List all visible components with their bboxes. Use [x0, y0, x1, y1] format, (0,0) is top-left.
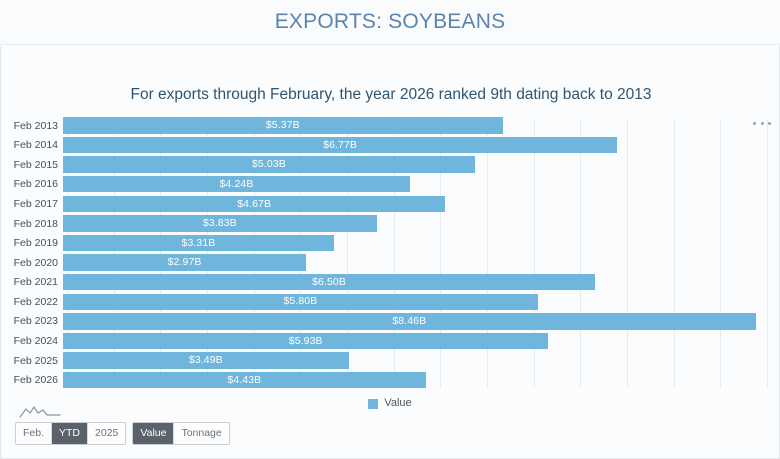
bar-track: $5.03B	[63, 155, 779, 175]
bar[interactable]: $6.77B	[63, 137, 617, 153]
chart-rows: Feb 2013$5.37BFeb 2014$6.77BFeb 2015$5.0…	[1, 116, 779, 390]
bar-track: $5.93B	[63, 332, 779, 352]
category-label: Feb 2026	[1, 375, 63, 386]
chart-row: Feb 2013$5.37B	[1, 116, 779, 136]
chart-row: Feb 2026$4.43B	[1, 371, 779, 391]
category-label: Feb 2021	[1, 277, 63, 288]
bar-track: $2.97B	[63, 253, 779, 273]
period-button-2025[interactable]: 2025	[88, 423, 125, 444]
bar[interactable]: $6.50B	[63, 274, 595, 290]
category-label: Feb 2025	[1, 356, 63, 367]
measure-button-tonnage[interactable]: Tonnage	[174, 423, 228, 444]
bar-track: $8.46B	[63, 312, 779, 332]
bar-value-label: $3.83B	[203, 218, 237, 229]
bar-value-label: $2.97B	[168, 257, 202, 268]
bar-track: $5.80B	[63, 292, 779, 312]
bar[interactable]: $5.93B	[63, 333, 548, 349]
bar[interactable]: $8.46B	[63, 313, 756, 329]
chart-row: Feb 2022$5.80B	[1, 292, 779, 312]
chart-row: Feb 2015$5.03B	[1, 155, 779, 175]
page-header: EXPORTS: SOYBEANS	[0, 0, 780, 45]
chart-plot-area: Feb 2013$5.37BFeb 2014$6.77BFeb 2015$5.0…	[1, 116, 779, 391]
bar-value-label: $4.67B	[237, 199, 271, 210]
bar-track: $3.31B	[63, 234, 779, 254]
period-button-feb[interactable]: Feb.	[16, 423, 52, 444]
bar[interactable]: $3.49B	[63, 352, 349, 368]
bar-value-label: $8.46B	[392, 316, 426, 327]
bar-chart: Feb 2013$5.37BFeb 2014$6.77BFeb 2015$5.0…	[1, 116, 779, 391]
chart-row: Feb 2019$3.31B	[1, 234, 779, 254]
chart-row: Feb 2014$6.77B	[1, 136, 779, 156]
control-button-groups: Feb.YTD2025 ValueTonnage	[15, 422, 230, 445]
category-label: Feb 2013	[1, 121, 63, 132]
bar[interactable]: $3.83B	[63, 215, 377, 231]
period-button-ytd[interactable]: YTD	[52, 423, 88, 444]
category-label: Feb 2014	[1, 140, 63, 151]
bar-value-label: $3.49B	[189, 355, 223, 366]
bar-track: $4.67B	[63, 194, 779, 214]
page-title: EXPORTS: SOYBEANS	[275, 10, 506, 34]
measure-button-group: ValueTonnage	[132, 422, 229, 445]
bar-value-label: $4.24B	[220, 179, 254, 190]
bar-value-label: $6.50B	[312, 277, 346, 288]
bar[interactable]: $3.31B	[63, 235, 334, 251]
chart-row: Feb 2020$2.97B	[1, 253, 779, 273]
category-label: Feb 2024	[1, 336, 63, 347]
category-label: Feb 2019	[1, 238, 63, 249]
bar-track: $6.50B	[63, 273, 779, 293]
bar-track: $4.43B	[63, 371, 779, 391]
measure-button-value[interactable]: Value	[133, 423, 174, 444]
category-label: Feb 2015	[1, 160, 63, 171]
chart-row: Feb 2016$4.24B	[1, 175, 779, 195]
bar[interactable]: $5.80B	[63, 294, 538, 310]
bar-track: $6.77B	[63, 136, 779, 156]
bar-track: $3.49B	[63, 351, 779, 371]
category-label: Feb 2016	[1, 179, 63, 190]
chart-row: Feb 2017$4.67B	[1, 194, 779, 214]
legend-label[interactable]: Value	[384, 398, 411, 409]
bar-track: $5.37B	[63, 116, 779, 136]
chart-row: Feb 2023$8.46B	[1, 312, 779, 332]
bar[interactable]: $4.43B	[63, 372, 426, 388]
period-button-group: Feb.YTD2025	[15, 422, 126, 445]
bar-value-label: $3.31B	[182, 238, 216, 249]
chart-row: Feb 2024$5.93B	[1, 332, 779, 352]
category-label: Feb 2017	[1, 199, 63, 210]
bar-value-label: $5.80B	[283, 296, 317, 307]
bar-value-label: $4.43B	[227, 375, 261, 386]
bar-track: $3.83B	[63, 214, 779, 234]
chart-card: For exports through February, the year 2…	[0, 46, 780, 459]
bar[interactable]: $5.37B	[63, 117, 503, 133]
category-label: Feb 2020	[1, 258, 63, 269]
chart-row: Feb 2025$3.49B	[1, 351, 779, 371]
bar-track: $4.24B	[63, 175, 779, 195]
bar[interactable]: $5.03B	[63, 156, 475, 172]
category-label: Feb 2023	[1, 316, 63, 327]
bar[interactable]: $4.67B	[63, 196, 445, 212]
bar-value-label: $5.03B	[252, 159, 286, 170]
area-chart-icon	[19, 404, 61, 419]
legend-swatch	[368, 399, 378, 409]
bar-value-label: $6.77B	[323, 140, 357, 151]
bar[interactable]: $4.24B	[63, 176, 410, 192]
chart-row: Feb 2018$3.83B	[1, 214, 779, 234]
bar-value-label: $5.37B	[266, 120, 300, 131]
bar[interactable]: $2.97B	[63, 254, 306, 270]
app-root: EXPORTS: SOYBEANS For exports through Fe…	[0, 0, 780, 459]
chart-row: Feb 2021$6.50B	[1, 273, 779, 293]
chart-controls: Feb.YTD2025 ValueTonnage	[15, 404, 230, 445]
bar-value-label: $5.93B	[289, 336, 323, 347]
chart-subtitle: For exports through February, the year 2…	[1, 86, 780, 104]
category-label: Feb 2022	[1, 297, 63, 308]
category-label: Feb 2018	[1, 219, 63, 230]
